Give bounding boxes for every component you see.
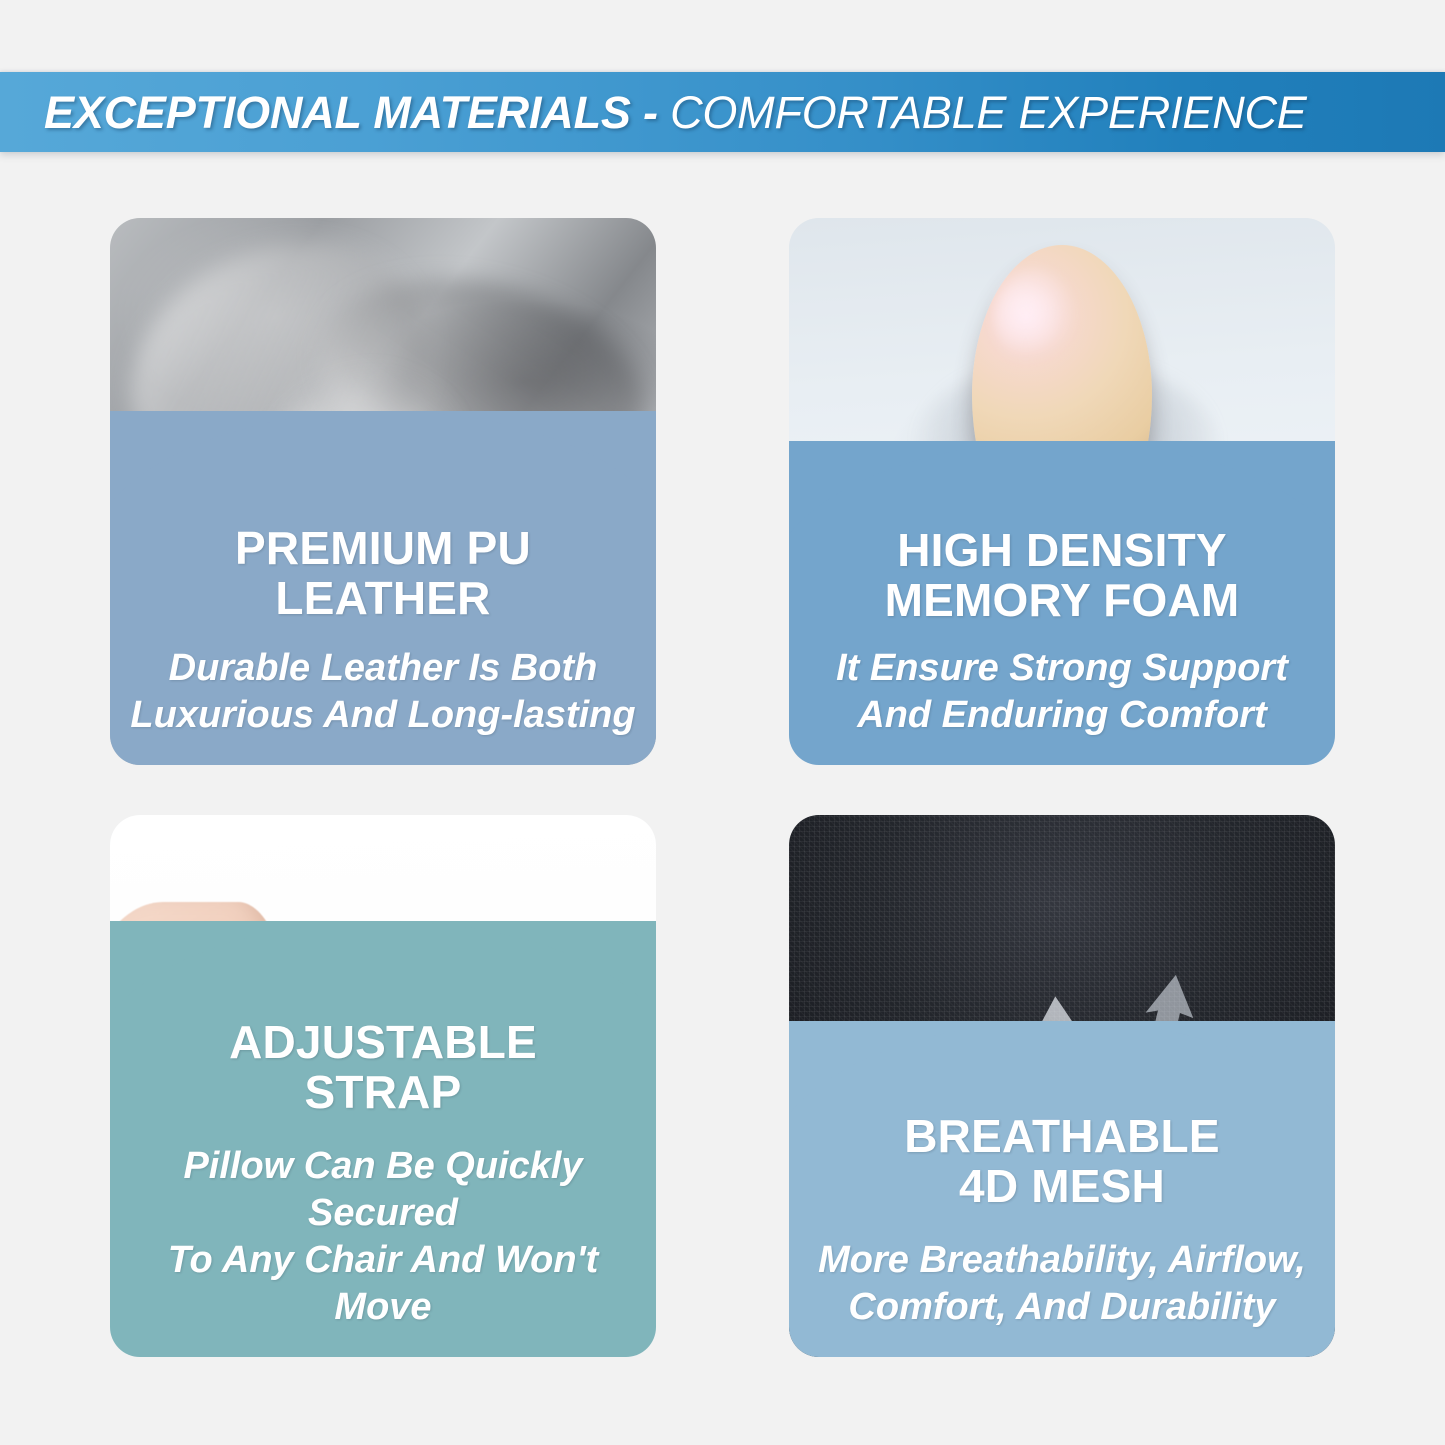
- card-title: PREMIUM PU LEATHER: [128, 523, 638, 623]
- card-title: BREATHABLE 4D MESH: [807, 1111, 1317, 1211]
- feature-card-premium-pu-leather: PREMIUM PU LEATHER Durable Leather Is Bo…: [110, 218, 656, 765]
- banner-headline: EXCEPTIONAL MATERIALS - COMFORTABLE EXPE…: [0, 90, 1307, 135]
- banner-headline-strong: EXCEPTIONAL MATERIALS: [44, 87, 631, 138]
- card-text-overlay: HIGH DENSITY MEMORY FOAM It Ensure Stron…: [789, 441, 1335, 765]
- card-title: HIGH DENSITY MEMORY FOAM: [807, 525, 1317, 625]
- card-subtitle: Pillow Can Be Quickly Secured To Any Cha…: [128, 1143, 638, 1331]
- feature-card-breathable-4d-mesh: BREATHABLE 4D MESH More Breathability, A…: [789, 815, 1335, 1357]
- card-subtitle: Durable Leather Is Both Luxurious And Lo…: [128, 645, 638, 739]
- card-title: ADJUSTABLE STRAP: [128, 1017, 638, 1117]
- feature-card-high-density-memory-foam: HIGH DENSITY MEMORY FOAM It Ensure Stron…: [789, 218, 1335, 765]
- card-text-overlay: ADJUSTABLE STRAP Pillow Can Be Quickly S…: [110, 921, 656, 1357]
- feature-card-grid: PREMIUM PU LEATHER Durable Leather Is Bo…: [110, 218, 1335, 1357]
- header-banner: EXCEPTIONAL MATERIALS - COMFORTABLE EXPE…: [0, 72, 1445, 152]
- banner-headline-separator: -: [631, 87, 670, 138]
- card-subtitle: It Ensure Strong Support And Enduring Co…: [807, 645, 1317, 739]
- card-text-overlay: PREMIUM PU LEATHER Durable Leather Is Bo…: [110, 411, 656, 765]
- banner-headline-light: COMFORTABLE EXPERIENCE: [670, 87, 1307, 138]
- card-text-overlay: BREATHABLE 4D MESH More Breathability, A…: [789, 1021, 1335, 1357]
- card-subtitle: More Breathability, Airflow, Comfort, An…: [807, 1237, 1317, 1331]
- feature-card-adjustable-strap: ADJUSTABLE STRAP Pillow Can Be Quickly S…: [110, 815, 656, 1357]
